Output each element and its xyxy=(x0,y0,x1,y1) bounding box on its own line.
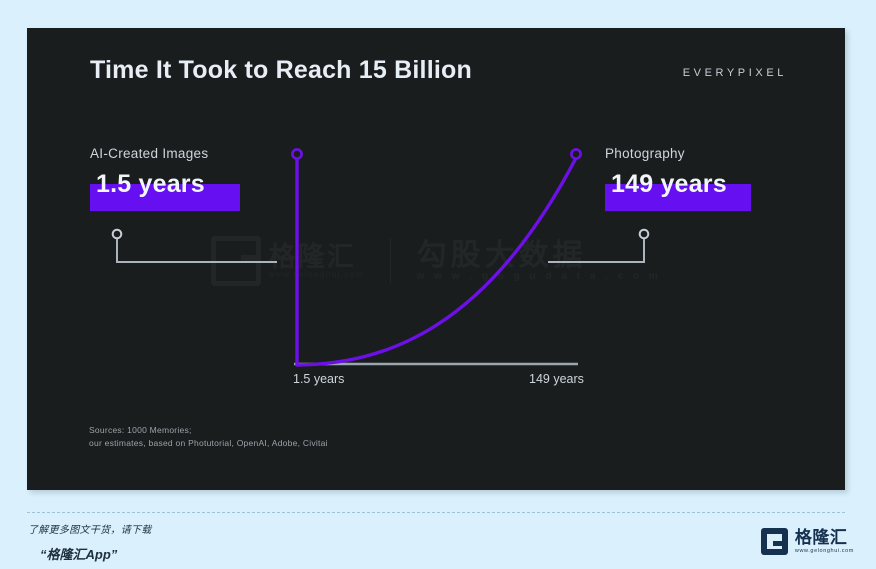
footer-logo-url: www.gelonghui.com xyxy=(795,549,854,555)
footer-promo: 了解更多图文干货，请下载 “格隆汇App” xyxy=(28,521,152,563)
sources-line-2: our estimates, based on Photutorial, Ope… xyxy=(89,437,328,450)
x-tick-label-left: 1.5 years xyxy=(293,372,344,386)
connector-right-marker xyxy=(640,230,649,239)
gelonghui-g-icon xyxy=(761,528,788,555)
infographic-card: 格隆汇 www.gelonghui.com 勾股大数据 w w w . g o … xyxy=(27,28,845,490)
x-tick-label-right: 149 years xyxy=(529,372,584,386)
chart-graphic: 1.5 years 149 years xyxy=(27,28,845,490)
connector-right xyxy=(548,230,648,262)
series-endpoint-photography xyxy=(571,149,580,158)
footer-logo-text: 格隆汇 www.gelonghui.com xyxy=(795,529,854,555)
screenshot-root: 格隆汇 www.gelonghui.com 勾股大数据 w w w . g o … xyxy=(0,0,876,569)
sources-line-1: Sources: 1000 Memories; xyxy=(89,424,328,437)
footer-logo: 格隆汇 www.gelonghui.com xyxy=(761,528,854,555)
footer-logo-name: 格隆汇 xyxy=(795,529,854,546)
series-line-photography xyxy=(297,158,576,365)
connector-left xyxy=(113,230,277,262)
footer-promo-line2: “格隆汇App” xyxy=(40,544,152,563)
connector-left-marker xyxy=(113,230,122,239)
series-endpoint-ai-created-images xyxy=(292,149,301,158)
footer-separator xyxy=(27,512,845,513)
footer-promo-line1: 了解更多图文干货，请下载 xyxy=(28,521,152,536)
sources-note: Sources: 1000 Memories; our estimates, b… xyxy=(89,424,328,450)
